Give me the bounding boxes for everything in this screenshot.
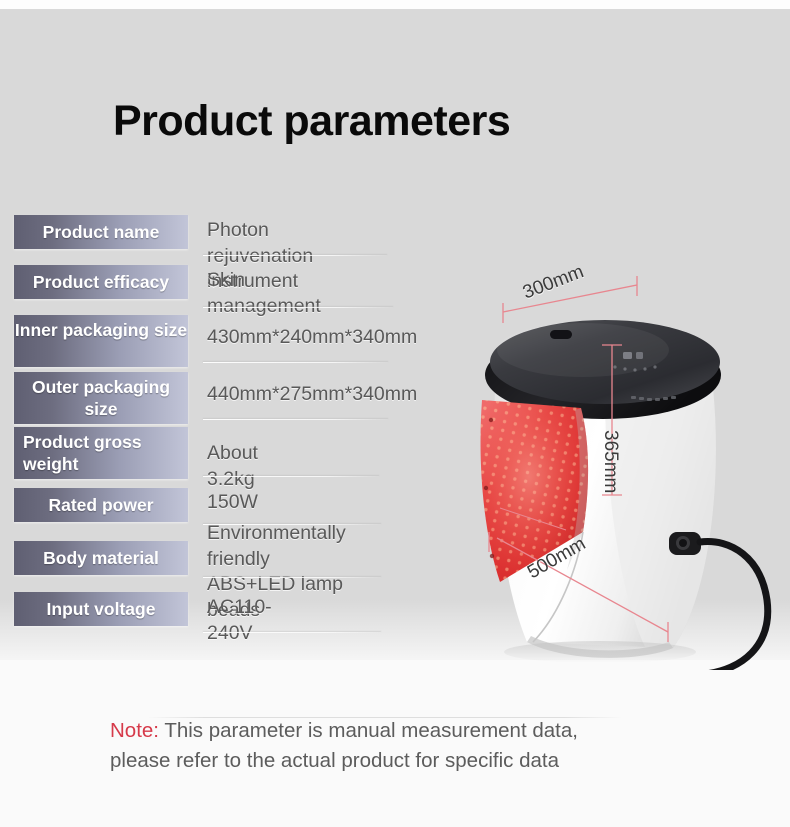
note-text: Note: This parameter is manual measureme… (110, 716, 710, 775)
spec-label-product-efficacy: Product efficacy (14, 265, 188, 299)
spec-value-rated-power: 150W (207, 490, 258, 516)
note-line-1: This parameter is manual measurement dat… (159, 719, 578, 742)
note-line-2: please refer to the actual product for s… (110, 749, 559, 772)
spec-label-product-gross-weight: Product gross weight (14, 427, 188, 479)
dimension-label-365mm: 365mm (599, 430, 621, 493)
product-photo (455, 270, 790, 670)
spec-value-inner-packaging-size: 430mm*240mm*340mm (207, 325, 417, 351)
spec-label-input-voltage: Input voltage (14, 592, 188, 626)
spec-value-input-voltage: AC110-240V (207, 595, 272, 646)
spec-value-outer-packaging-size: 440mm*275mm*340mm (207, 382, 417, 408)
spec-label-product-name: Product name (14, 215, 188, 249)
spec-value-product-gross-weight: About 3.2kg (207, 441, 258, 492)
top-white-strip (0, 0, 790, 9)
spec-value-product-efficacy: Skin management (207, 268, 321, 319)
product-parameters-page: 300mm 365mm 500mm Product parameters Pro… (0, 0, 790, 827)
spec-label-outer-packaging-size: Outer packaging size (14, 372, 188, 424)
note-keyword: Note: (110, 719, 159, 742)
page-title: Product parameters (113, 97, 510, 146)
spec-label-rated-power: Rated power (14, 488, 188, 522)
spec-label-inner-packaging-size: Inner packaging size (14, 315, 188, 367)
spec-label-body-material: Body material (14, 541, 188, 575)
